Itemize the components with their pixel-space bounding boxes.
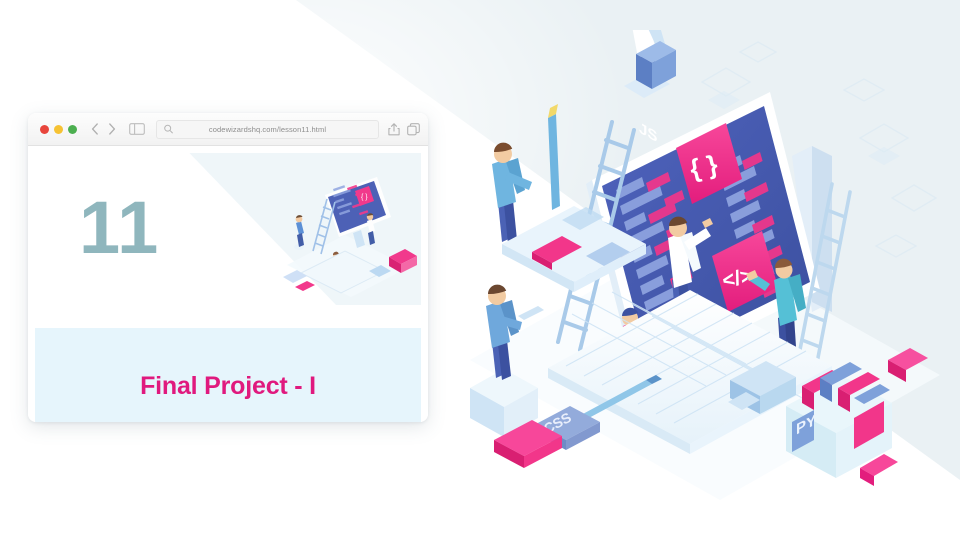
back-button[interactable] <box>87 121 102 137</box>
person-top-js: JS <box>624 30 676 146</box>
lesson-card-body: 11 <box>28 146 428 422</box>
main-illustration: { } </> <box>440 30 960 500</box>
lesson-number: 11 <box>79 195 159 262</box>
address-bar[interactable]: codewizardshq.com/lesson11.html <box>156 120 379 139</box>
svg-text:JS: JS <box>639 119 658 146</box>
toolbar-right-buttons <box>388 123 420 136</box>
minimize-button[interactable] <box>54 125 63 134</box>
lesson-title: Final Project - I <box>140 372 316 401</box>
sidebar-toggle-icon[interactable] <box>127 122 146 137</box>
lesson-title-panel: Final Project - I <box>35 328 421 422</box>
search-icon <box>164 125 173 134</box>
screenshot-stage: codewizardshq.com/lesson11.html <box>0 0 960 540</box>
forward-button[interactable] <box>104 121 119 137</box>
address-bar-url[interactable]: codewizardshq.com/lesson11.html <box>157 125 378 134</box>
svg-text:{ }: { } <box>361 194 368 201</box>
maximize-button[interactable] <box>68 125 77 134</box>
lesson-thumbnail-illustration: { } <box>273 161 421 301</box>
tabs-icon[interactable] <box>407 123 420 136</box>
close-button[interactable] <box>40 125 49 134</box>
window-controls <box>40 125 77 134</box>
share-icon[interactable] <box>388 123 400 136</box>
lesson-hero-area: 11 <box>35 153 421 305</box>
browser-window-card: codewizardshq.com/lesson11.html <box>28 113 428 422</box>
navigation-buttons <box>87 121 119 137</box>
person-ruler <box>492 143 532 244</box>
browser-toolbar: codewizardshq.com/lesson11.html <box>28 113 428 146</box>
